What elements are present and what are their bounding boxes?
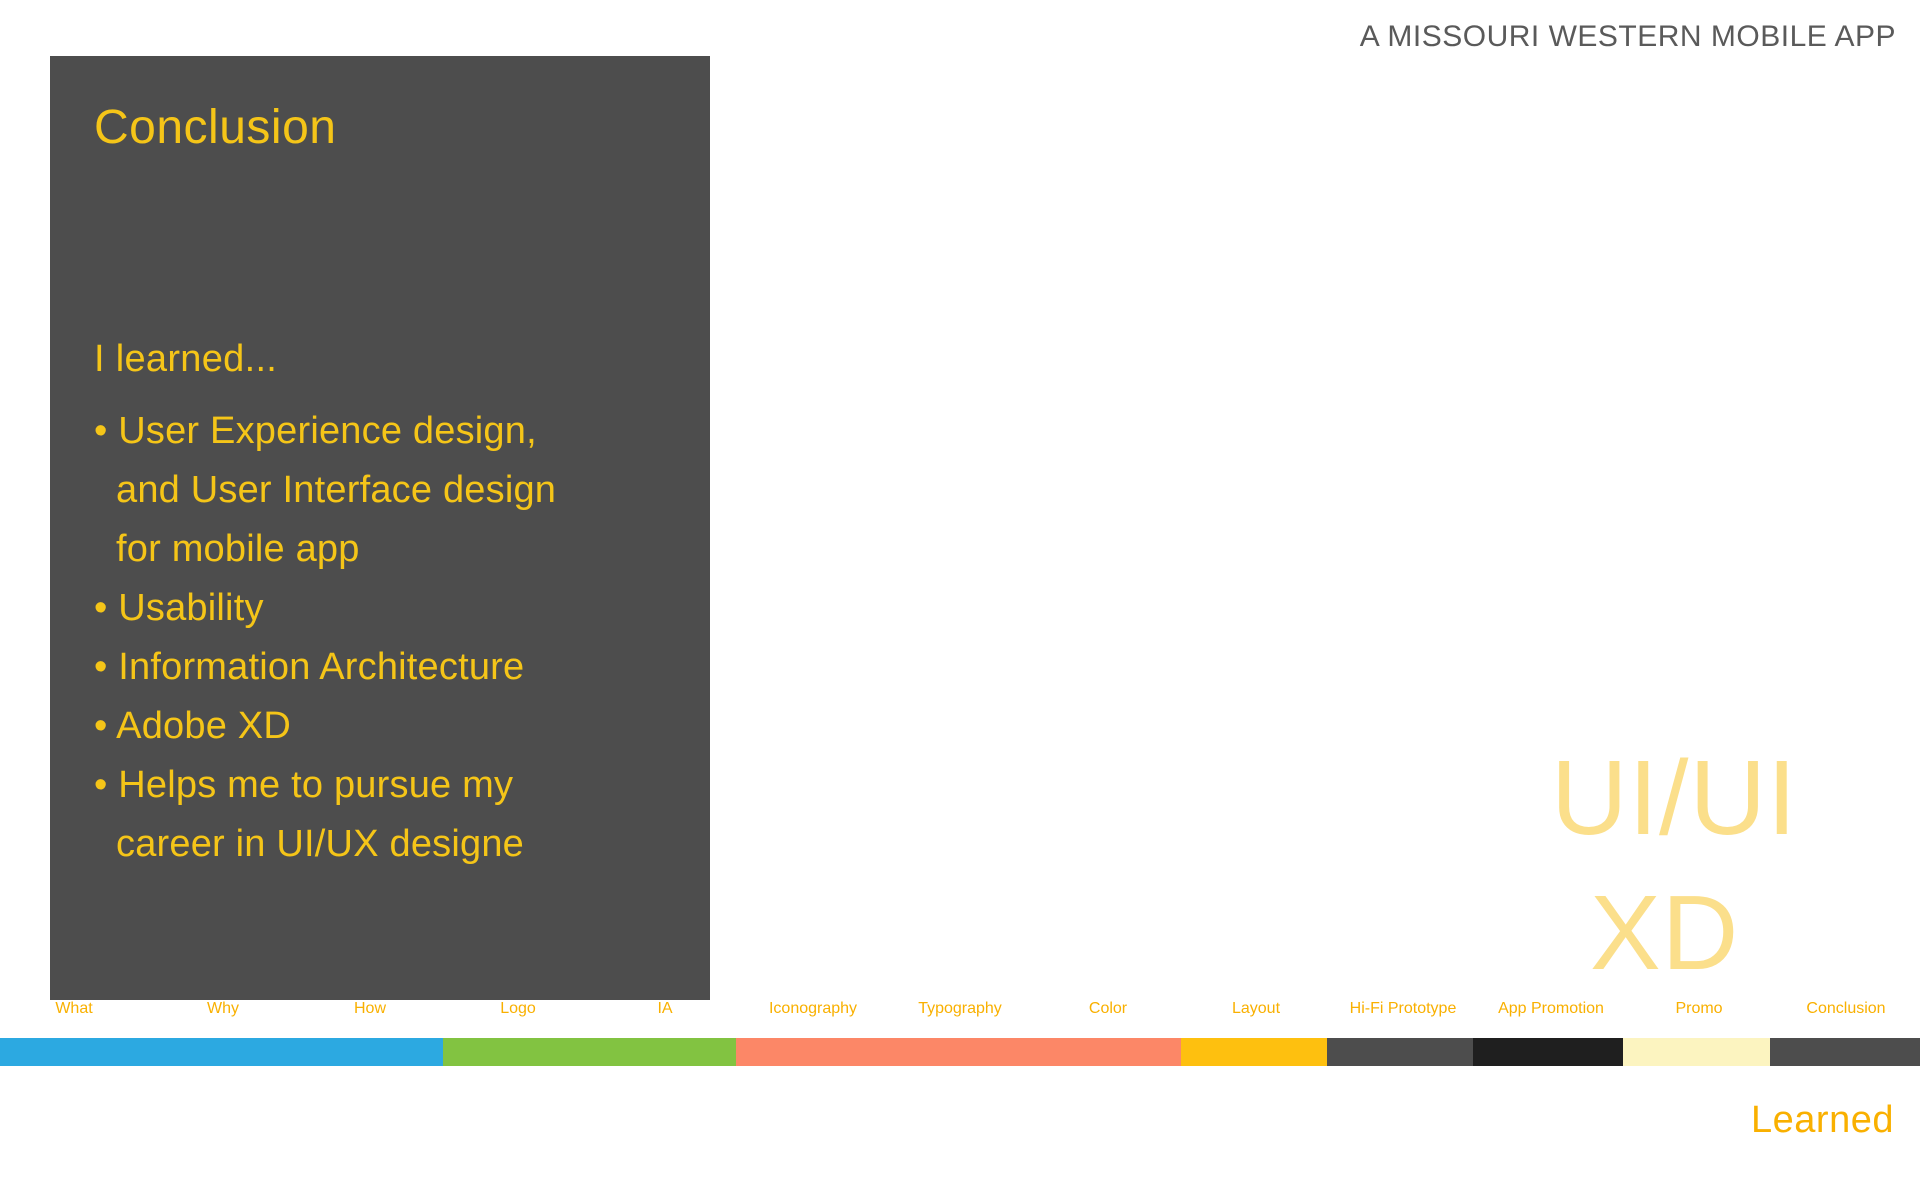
list-item: • Usability	[94, 579, 670, 638]
nav-item-what[interactable]: What	[55, 1000, 92, 1018]
nav-item-app-promotion[interactable]: App Promotion	[1498, 1000, 1604, 1018]
bottom-navigation: WhatWhyHowLogoIAIconographyTypographyCol…	[0, 1000, 1920, 1070]
nav-item-hi-fi-prototype[interactable]: Hi-Fi Prototype	[1350, 1000, 1457, 1018]
nav-item-color[interactable]: Color	[1089, 1000, 1127, 1018]
slide-canvas: A MISSOURI WESTERN MOBILE APP Conclusion…	[0, 0, 1920, 1200]
page-title: A MISSOURI WESTERN MOBILE APP	[1360, 20, 1896, 54]
nav-segment-green[interactable]	[443, 1038, 736, 1066]
decorative-word-ui-ui: UI/UI	[1551, 745, 1797, 851]
nav-item-typography[interactable]: Typography	[918, 1000, 1002, 1018]
nav-item-iconography[interactable]: Iconography	[769, 1000, 857, 1018]
nav-item-why[interactable]: Why	[207, 1000, 239, 1018]
nav-segment-yellow[interactable]	[1181, 1038, 1327, 1066]
list-item: • Helps me to pursue my career in UI/UX …	[94, 756, 670, 874]
nav-item-how[interactable]: How	[354, 1000, 386, 1018]
list-item: • Adobe XD	[94, 697, 670, 756]
footer-word-learned: Learned	[1751, 1099, 1894, 1142]
nav-segment-salmon[interactable]	[736, 1038, 1181, 1066]
list-item: • User Experience design, and User Inter…	[94, 402, 670, 579]
nav-segment-black[interactable]	[1473, 1038, 1623, 1066]
nav-item-conclusion[interactable]: Conclusion	[1806, 1000, 1885, 1018]
nav-progress-bar	[0, 1038, 1920, 1066]
lead-in-text: I learned...	[94, 337, 670, 383]
nav-segment-blue[interactable]	[0, 1038, 443, 1066]
nav-label-row: WhatWhyHowLogoIAIconographyTypographyCol…	[0, 1000, 1920, 1038]
nav-item-layout[interactable]: Layout	[1232, 1000, 1280, 1018]
decorative-word-xd: XD	[1590, 880, 1739, 986]
list-item: • Information Architecture	[94, 638, 670, 697]
panel-heading: Conclusion	[94, 102, 670, 155]
nav-segment-grey[interactable]	[1770, 1038, 1920, 1066]
content-panel: Conclusion I learned... • User Experienc…	[50, 56, 710, 1000]
nav-item-promo[interactable]: Promo	[1675, 1000, 1722, 1018]
nav-item-logo[interactable]: Logo	[500, 1000, 536, 1018]
nav-segment-cream[interactable]	[1623, 1038, 1770, 1066]
nav-item-ia[interactable]: IA	[657, 1000, 672, 1018]
nav-segment-dark-grey[interactable]	[1327, 1038, 1473, 1066]
learned-bullet-list: • User Experience design, and User Inter…	[94, 402, 670, 873]
